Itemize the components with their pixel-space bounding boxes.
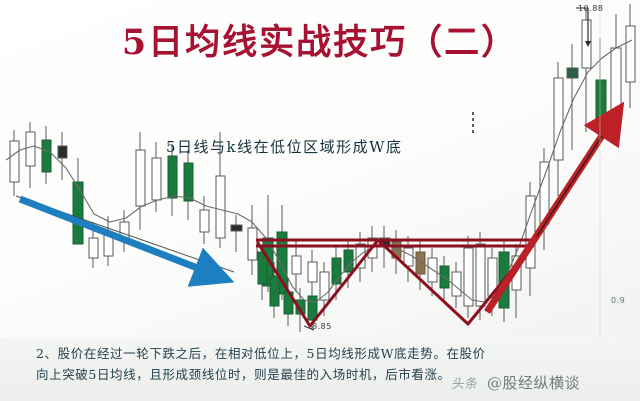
candle: [512, 244, 521, 318]
candle: [136, 132, 145, 230]
candle: [42, 126, 51, 184]
watermark-brand: 头条: [451, 373, 480, 392]
right-axis-label: 0.9: [610, 296, 626, 305]
candle: [58, 132, 67, 180]
candle: [404, 236, 413, 282]
high-price-label: 10.88: [578, 4, 603, 13]
candle: [248, 205, 257, 275]
ma5-line: [6, 40, 632, 302]
chart-subtitle: 5日线与k线在低位区域形成W底: [166, 136, 403, 157]
candle: [184, 150, 193, 220]
page-title: 5日均线实战技巧（二）: [0, 14, 640, 65]
candle: [26, 122, 35, 188]
candle: [440, 256, 449, 302]
candle: [392, 230, 401, 274]
candle: [73, 158, 83, 244]
low-price-label: 8.85: [312, 322, 332, 331]
slide-root: 5日均线实战技巧（二） 5日线与k线在低位区域形成W底 10.88 8.85 0…: [0, 0, 640, 401]
candle: [10, 130, 19, 196]
crosshair-marker: [472, 112, 474, 134]
downtrend-arrow[interactable]: [20, 199, 205, 271]
candle: [464, 236, 473, 318]
candle: [104, 216, 113, 266]
candle: [292, 240, 301, 292]
caption-line-1: 2、股价在经过一轮下跌之后，在相对低位上，5日均线形成W底走势。在股价: [36, 343, 486, 362]
caption-line-2: 向上突破5日均线，且形成颈线位时，则是最佳的入场时机，后市看涨。: [36, 364, 451, 383]
watermark-handle: @股经纵横谈: [487, 372, 580, 393]
candle: [231, 215, 242, 252]
